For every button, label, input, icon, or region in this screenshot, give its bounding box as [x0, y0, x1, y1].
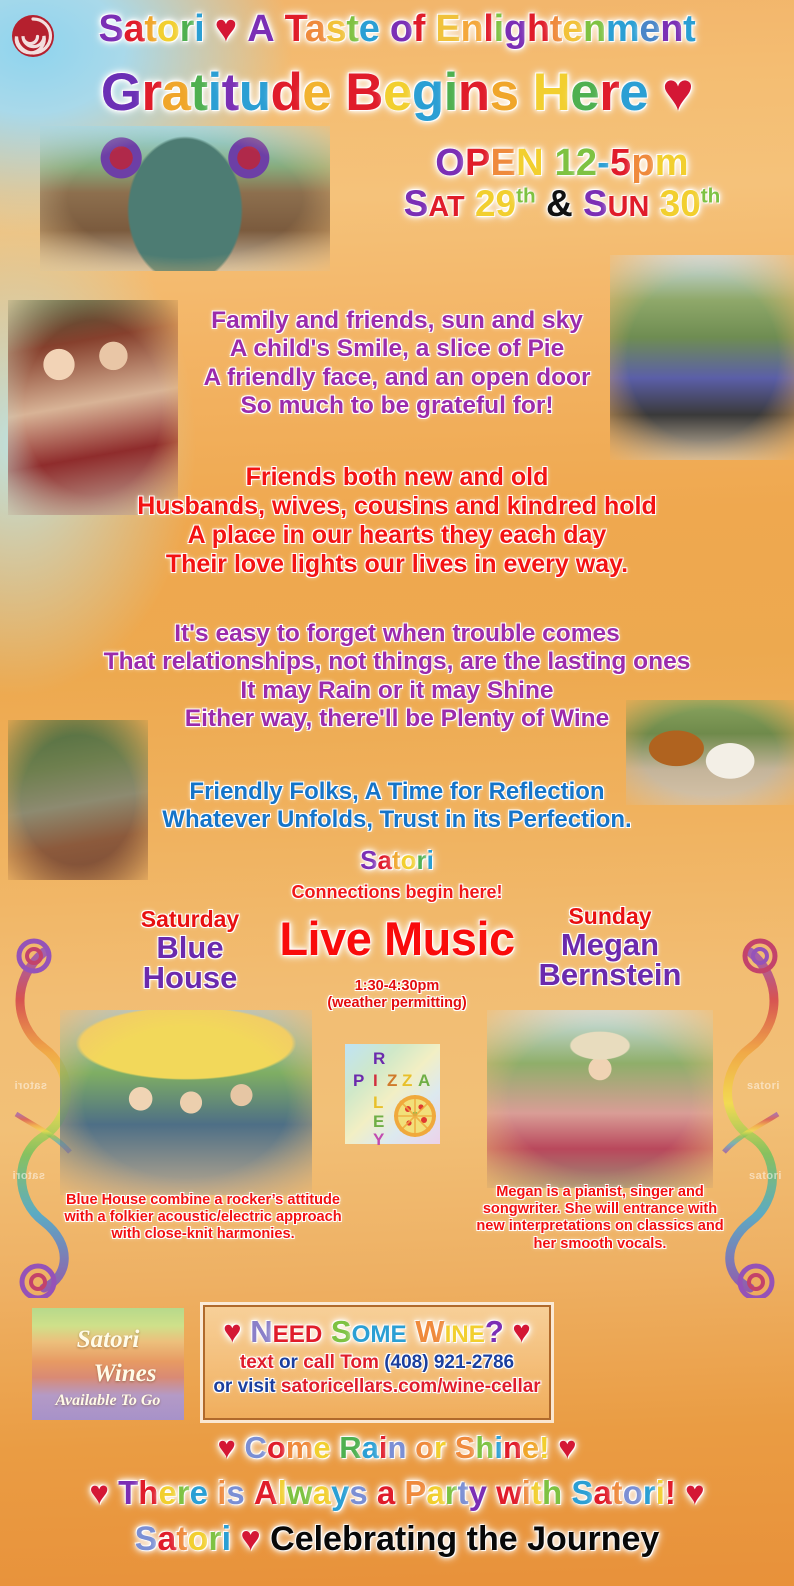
satori-wordmark-middle: Satori — [0, 845, 794, 876]
open-dates-line: SAT 29th & SUN 30th — [330, 183, 794, 225]
pizza-logo-letter-Z1: Z — [387, 1071, 397, 1091]
riley-pizza-logo[interactable]: R P I Z Z A L E Y — [345, 1044, 440, 1144]
pizza-logo-letter-A: A — [418, 1071, 430, 1091]
saturday-act-bio: Blue House combine a rocker’s attitude w… — [58, 1192, 348, 1244]
ribbon-watermark-satori-2: satori — [12, 1170, 45, 1182]
ribbon-watermark-satori-3: satori — [747, 1080, 780, 1092]
sunday-act-block: Sunday Megan Bernstein — [480, 903, 740, 990]
pizza-logo-letter-Z2: Z — [402, 1071, 412, 1091]
poem-line: A friendly face, and an open door — [0, 364, 794, 392]
poem-line: Friends both new and old — [0, 463, 794, 492]
pizza-logo-letter-L: L — [373, 1093, 383, 1113]
footer-line-3: Satori ♥ Celebrating the Journey — [0, 1520, 794, 1559]
satori-entrance-photo — [40, 126, 330, 271]
poem-line: A child's Smile, a slice of Pie — [0, 335, 794, 363]
wine-art-line-1: Satori — [32, 1326, 184, 1354]
poem-stanza-2: Friends both new and oldHusbands, wives,… — [0, 463, 794, 579]
poem-line: Friendly Folks, A Time for Reflection — [0, 778, 794, 806]
need-some-wine-box[interactable]: ♥ NEED SOME WINE? ♥ text or call Tom (40… — [203, 1305, 551, 1420]
wine-art-line-2: Wines — [32, 1360, 184, 1388]
open-hours-block: OPEN 12-5pm SAT 29th & SUN 30th — [330, 142, 794, 225]
saturday-label: Saturday — [60, 906, 320, 933]
poem-line: Their love lights our lives in every way… — [0, 550, 794, 579]
pizza-slice-icon — [391, 1092, 439, 1140]
wine-art-line-3: Available To Go — [32, 1392, 184, 1410]
saturday-act-name-line1: Blue — [60, 932, 320, 963]
ribbon-watermark-satori-1: satori — [14, 1080, 47, 1092]
saturday-act-name-line2: House — [60, 962, 320, 993]
poem-line: A place in our hearts they each day — [0, 521, 794, 550]
open-hours-line: OPEN 12-5pm — [330, 142, 794, 185]
footer-line-1: ♥ Come Rain or Shine! ♥ — [0, 1430, 794, 1466]
sunday-label: Sunday — [480, 903, 740, 930]
poem-line: Husbands, wives, cousins and kindred hol… — [0, 492, 794, 521]
saturday-act-block: Saturday Blue House — [60, 906, 320, 993]
poem-line: It's easy to forget when trouble comes — [0, 620, 794, 648]
blue-house-band-photo — [60, 1010, 312, 1195]
need-some-wine-heading: ♥ NEED SOME WINE? ♥ — [205, 1314, 549, 1350]
footer-line-2: ♥ There is Always a Party with Satori! ♥ — [0, 1474, 794, 1512]
pizza-logo-letter-P: P — [353, 1071, 364, 1091]
wine-website-line[interactable]: or visit satoricellars.com/wine-cellar — [205, 1376, 549, 1398]
page-title-line-1: Satori ♥ A Taste of Enlightenment — [0, 8, 794, 51]
poem-line: It may Rain or it may Shine — [0, 677, 794, 705]
wine-contact-phone-line[interactable]: text or call Tom (408) 921-2786 — [205, 1352, 549, 1374]
pizza-logo-letter-I: I — [373, 1071, 378, 1091]
pizza-logo-letter-Y: Y — [373, 1130, 384, 1150]
music-weather-note: (weather permitting) — [0, 995, 794, 1012]
satori-wines-togo-art: Satori Wines Available To Go — [32, 1308, 184, 1420]
flyer-root: satori satori satori satori Satori ♥ A T… — [0, 0, 794, 1586]
poem-line: Either way, there'll be Plenty of Wine — [0, 705, 794, 733]
poem-line: Family and friends, sun and sky — [0, 307, 794, 335]
sunday-act-bio: Megan is a pianist, singer and songwrite… — [470, 1184, 730, 1253]
page-title-line-2: Gratitude Begins Here ♥ — [0, 62, 794, 123]
sunday-act-name-line2: Bernstein — [480, 959, 740, 990]
sunday-act-name-line1: Megan — [480, 929, 740, 960]
megan-bernstein-photo — [487, 1010, 713, 1188]
ribbon-watermark-satori-4: satori — [749, 1170, 782, 1182]
poem-stanza-4: Friendly Folks, A Time for ReflectionWha… — [0, 778, 794, 834]
poem-line: Whatever Unfolds, Trust in its Perfectio… — [0, 806, 794, 834]
pizza-logo-letter-R: R — [373, 1049, 385, 1069]
poem-stanza-1: Family and friends, sun and skyA child's… — [0, 307, 794, 421]
connections-tagline: Connections begin here! — [0, 882, 794, 903]
poem-line: That relationships, not things, are the … — [0, 648, 794, 676]
poem-line: So much to be grateful for! — [0, 392, 794, 420]
pizza-logo-letter-E: E — [373, 1112, 384, 1132]
poem-stanza-3: It's easy to forget when trouble comesTh… — [0, 620, 794, 734]
